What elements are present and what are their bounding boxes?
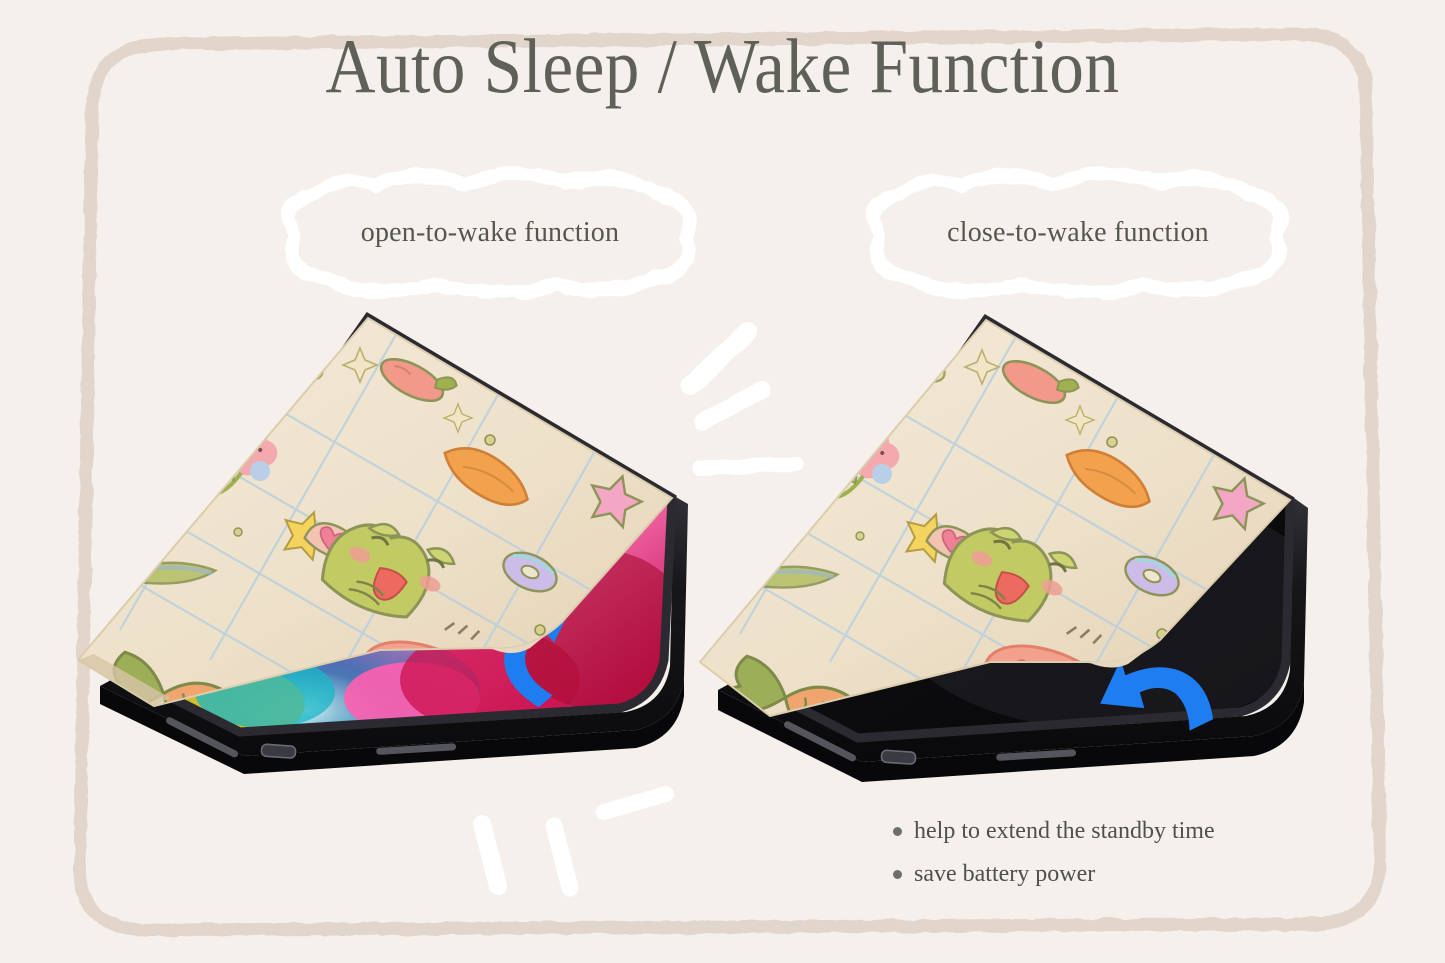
bullet-dot-icon bbox=[893, 827, 902, 836]
feature-bullets: help to extend the standby time save bat… bbox=[893, 818, 1313, 904]
bullet-text: save battery power bbox=[914, 861, 1095, 888]
bullet-text: help to extend the standby time bbox=[914, 818, 1215, 845]
callout-close-to-wake: close-to-wake function bbox=[838, 165, 1318, 300]
callout-left-label: open-to-wake function bbox=[255, 165, 725, 300]
bullet-item-1: save battery power bbox=[893, 861, 1313, 888]
callout-right-label: close-to-wake function bbox=[838, 165, 1318, 300]
callout-open-to-wake: open-to-wake function bbox=[255, 165, 725, 300]
bullet-dot-icon bbox=[893, 870, 902, 879]
poster-canvas: Auto Sleep / Wake Function open-to-wake … bbox=[0, 0, 1445, 963]
page-title: Auto Sleep / Wake Function bbox=[72, 22, 1373, 111]
tablet-open-to-wake[interactable] bbox=[60, 300, 760, 820]
bullet-item-0: help to extend the standby time bbox=[893, 818, 1313, 845]
tablet-close-to-wake[interactable] bbox=[690, 310, 1390, 830]
